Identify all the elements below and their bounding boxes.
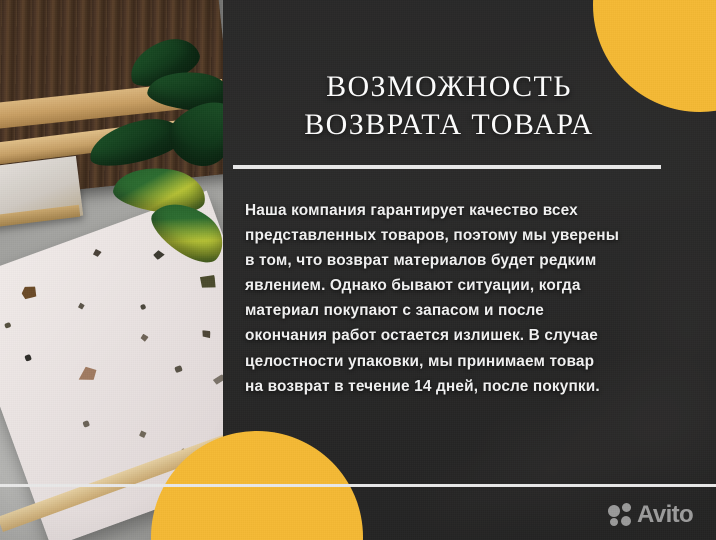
divider-top <box>233 165 661 169</box>
body-line-2: представленных товаров, поэтому мы увере… <box>245 223 697 248</box>
body-line-8: на возврат в течение 14 дней, после поку… <box>245 374 697 399</box>
page-title: ВОЗМОЖНОСТЬ ВОЗВРАТА ТОВАРА <box>233 68 665 144</box>
body-line-1: Наша компания гарантирует качество всех <box>245 198 697 223</box>
avito-logo-icon <box>608 503 633 527</box>
body-line-3: в том, что возврат материалов будет редк… <box>245 248 697 273</box>
page-title-line-2: ВОЗВРАТА ТОВАРА <box>233 106 665 144</box>
page-title-line-1: ВОЗМОЖНОСТЬ <box>233 68 665 106</box>
body-paragraph: Наша компания гарантирует качество всех … <box>245 198 697 399</box>
avito-watermark: Avito <box>608 503 693 527</box>
promo-card: ВОЗМОЖНОСТЬ ВОЗВРАТА ТОВАРА Наша компани… <box>0 0 716 540</box>
body-line-6: окончания работ остается излишек. В случ… <box>245 323 697 348</box>
divider-bottom <box>0 484 716 487</box>
avito-wordmark: Avito <box>637 503 693 527</box>
body-line-7: целостности упаковки, мы принимаем товар <box>245 349 697 374</box>
body-line-5: материал покупают с запасом и после <box>245 298 697 323</box>
body-line-4: явлением. Однако бывают ситуации, когда <box>245 273 697 298</box>
